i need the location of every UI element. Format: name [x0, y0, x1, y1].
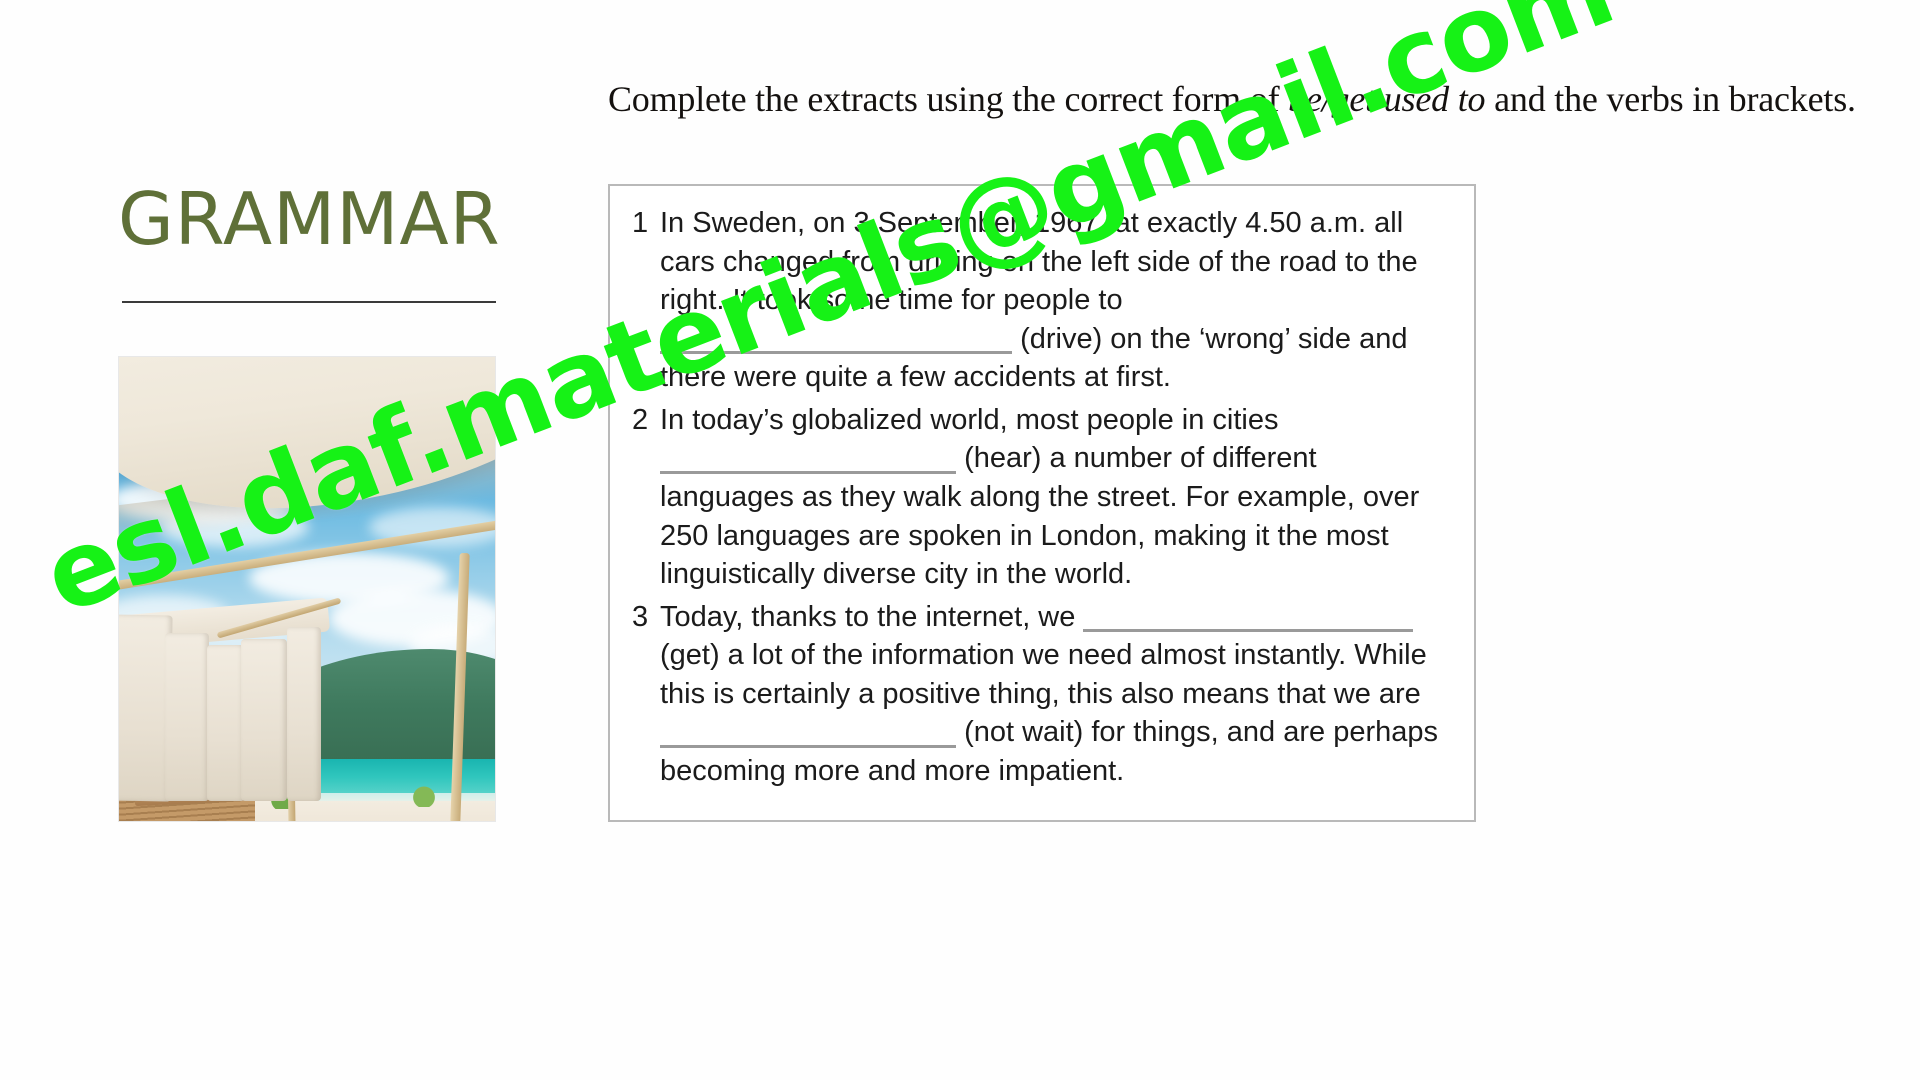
exercise-box: 1 In Sweden, on 3 September, 1967, at ex… [608, 184, 1476, 822]
beach-canopy-photo [119, 357, 495, 821]
answer-blank[interactable] [660, 471, 956, 474]
left-panel: GRAMMAR [118, 150, 500, 303]
list-item: 2 In today’s globalized world, most peop… [620, 401, 1460, 594]
item-segment: Today, thanks to the internet, we [660, 601, 1075, 633]
list-item: 3 Today, thanks to the internet, we (get… [620, 598, 1460, 791]
title-divider [122, 301, 496, 303]
item-segment: (get) a lot of the information we need a… [660, 639, 1427, 710]
instruction-part2: and the verbs in brackets. [1485, 79, 1855, 119]
item-text: Today, thanks to the internet, we (get) … [660, 598, 1460, 791]
page-title: GRAMMAR [118, 150, 500, 259]
curtain-drape [241, 639, 287, 801]
curtain-drape [207, 645, 245, 801]
list-item: 1 In Sweden, on 3 September, 1967, at ex… [620, 204, 1460, 397]
item-text: In today’s globalized world, most people… [660, 401, 1460, 594]
item-text: In Sweden, on 3 September, 1967, at exac… [660, 204, 1460, 397]
slide-page: GRAMMAR Complete the [0, 0, 1920, 1080]
item-number: 3 [620, 598, 660, 637]
answer-blank[interactable] [660, 745, 956, 748]
answer-blank[interactable] [1083, 629, 1413, 632]
item-segment: In Sweden, on 3 September, 1967, at exac… [660, 207, 1418, 316]
item-number: 1 [620, 204, 660, 243]
curtain-drape [165, 633, 209, 801]
item-segment: In today’s globalized world, most people… [660, 404, 1278, 436]
instruction-block: Complete the extracts using the correct … [608, 78, 1888, 120]
item-segment: (drive) on the ‘wrong’ side and there we… [660, 323, 1407, 394]
curtain-drape [287, 627, 321, 801]
instruction-text: Complete the extracts using the correct … [608, 78, 1888, 120]
item-number: 2 [620, 401, 660, 440]
plant-shape [405, 775, 443, 807]
answer-blank[interactable] [660, 351, 1012, 354]
instruction-italic: be/get used to [1288, 79, 1485, 119]
item-segment: (not wait) for things, and are perhaps b… [660, 716, 1438, 787]
item-segment: (hear) a number of different languages a… [660, 442, 1419, 590]
instruction-part1: Complete the extracts using the correct … [608, 79, 1288, 119]
